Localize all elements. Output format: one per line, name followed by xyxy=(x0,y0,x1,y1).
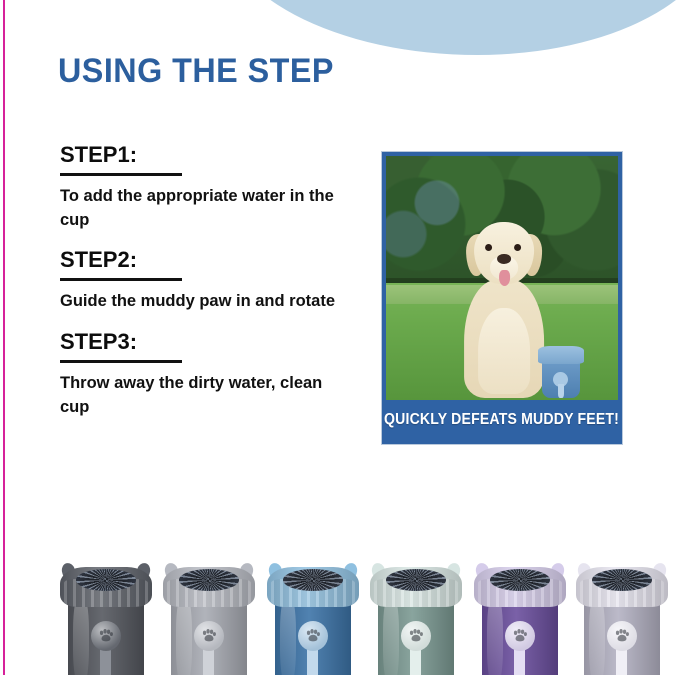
cup-spout xyxy=(616,647,627,675)
photo-cup-spout xyxy=(558,384,564,398)
dog-nose xyxy=(497,254,511,264)
step-underline xyxy=(60,173,182,176)
step-heading: STEP3: xyxy=(60,330,352,355)
infographic-page: USING THE STEP STEP1: To add the appropr… xyxy=(0,0,679,675)
cup-paw-medallion xyxy=(607,621,637,651)
cup-bristles xyxy=(490,569,550,591)
cup-spout xyxy=(307,647,318,675)
cup-bristles xyxy=(179,569,239,591)
paw-print-icon xyxy=(98,629,114,643)
paw-print-icon xyxy=(614,629,630,643)
cup-opening xyxy=(592,569,652,591)
step-heading: STEP1: xyxy=(60,143,352,168)
dog-photo xyxy=(386,156,618,400)
cup-paw-medallion xyxy=(505,621,535,651)
cup-paw-medallion xyxy=(298,621,328,651)
dog-eye-left xyxy=(485,244,492,251)
step-underline xyxy=(60,278,182,281)
photo-cup-collar xyxy=(538,346,584,364)
step-body: Guide the muddy paw in and rotate xyxy=(60,290,352,314)
product-variant-sage-green[interactable] xyxy=(370,555,462,675)
cup-paw-medallion xyxy=(401,621,431,651)
cup-spout xyxy=(410,647,421,675)
step-item-3: STEP3: Throw away the dirty water, clean… xyxy=(60,330,352,419)
step-item-2: STEP2: Guide the muddy paw in and rotate xyxy=(60,248,352,314)
dog-chest xyxy=(478,308,530,394)
cup-spout xyxy=(100,647,111,675)
steps-list: STEP1: To add the appropriate water in t… xyxy=(60,143,352,435)
cup-spout xyxy=(203,647,214,675)
step-heading: STEP2: xyxy=(60,248,352,273)
cup-opening xyxy=(386,569,446,591)
cup-bristles xyxy=(386,569,446,591)
paw-print-icon xyxy=(512,629,528,643)
dog-eye-right xyxy=(514,244,521,251)
paw-print-icon xyxy=(305,629,321,643)
product-variant-light-gray[interactable] xyxy=(163,555,255,675)
step-underline xyxy=(60,360,182,363)
page-title: USING THE STEP xyxy=(58,52,334,91)
cup-spout xyxy=(514,647,525,675)
cup-opening xyxy=(490,569,550,591)
cup-paw-medallion xyxy=(91,621,121,651)
paw-print-icon xyxy=(201,629,217,643)
step-body: To add the appropriate water in the cup xyxy=(60,185,352,233)
product-photo-panel: QUICKLY DEFEATS MUDDY FEET! xyxy=(382,152,622,444)
cup-opening xyxy=(76,569,136,591)
paw-cleaner-cup-in-photo xyxy=(538,342,584,398)
cup-bristles xyxy=(283,569,343,591)
step-item-1: STEP1: To add the appropriate water in t… xyxy=(60,143,352,232)
paw-print-icon xyxy=(408,629,424,643)
photo-caption-text: QUICKLY DEFEATS MUDDY FEET! xyxy=(384,411,619,429)
product-variant-blue[interactable] xyxy=(267,555,359,675)
product-color-variants-row xyxy=(0,528,679,675)
top-right-arc-decoration xyxy=(219,0,679,55)
cup-bristles xyxy=(592,569,652,591)
cup-paw-medallion xyxy=(194,621,224,651)
product-variant-purple[interactable] xyxy=(474,555,566,675)
cup-opening xyxy=(179,569,239,591)
cup-bristles xyxy=(76,569,136,591)
product-variant-charcoal[interactable] xyxy=(60,555,152,675)
product-variant-light-lavender[interactable] xyxy=(576,555,668,675)
step-body: Throw away the dirty water, clean cup xyxy=(60,372,352,420)
cup-opening xyxy=(283,569,343,591)
photo-caption-banner: QUICKLY DEFEATS MUDDY FEET! xyxy=(386,400,618,440)
dog-tongue xyxy=(499,270,510,286)
